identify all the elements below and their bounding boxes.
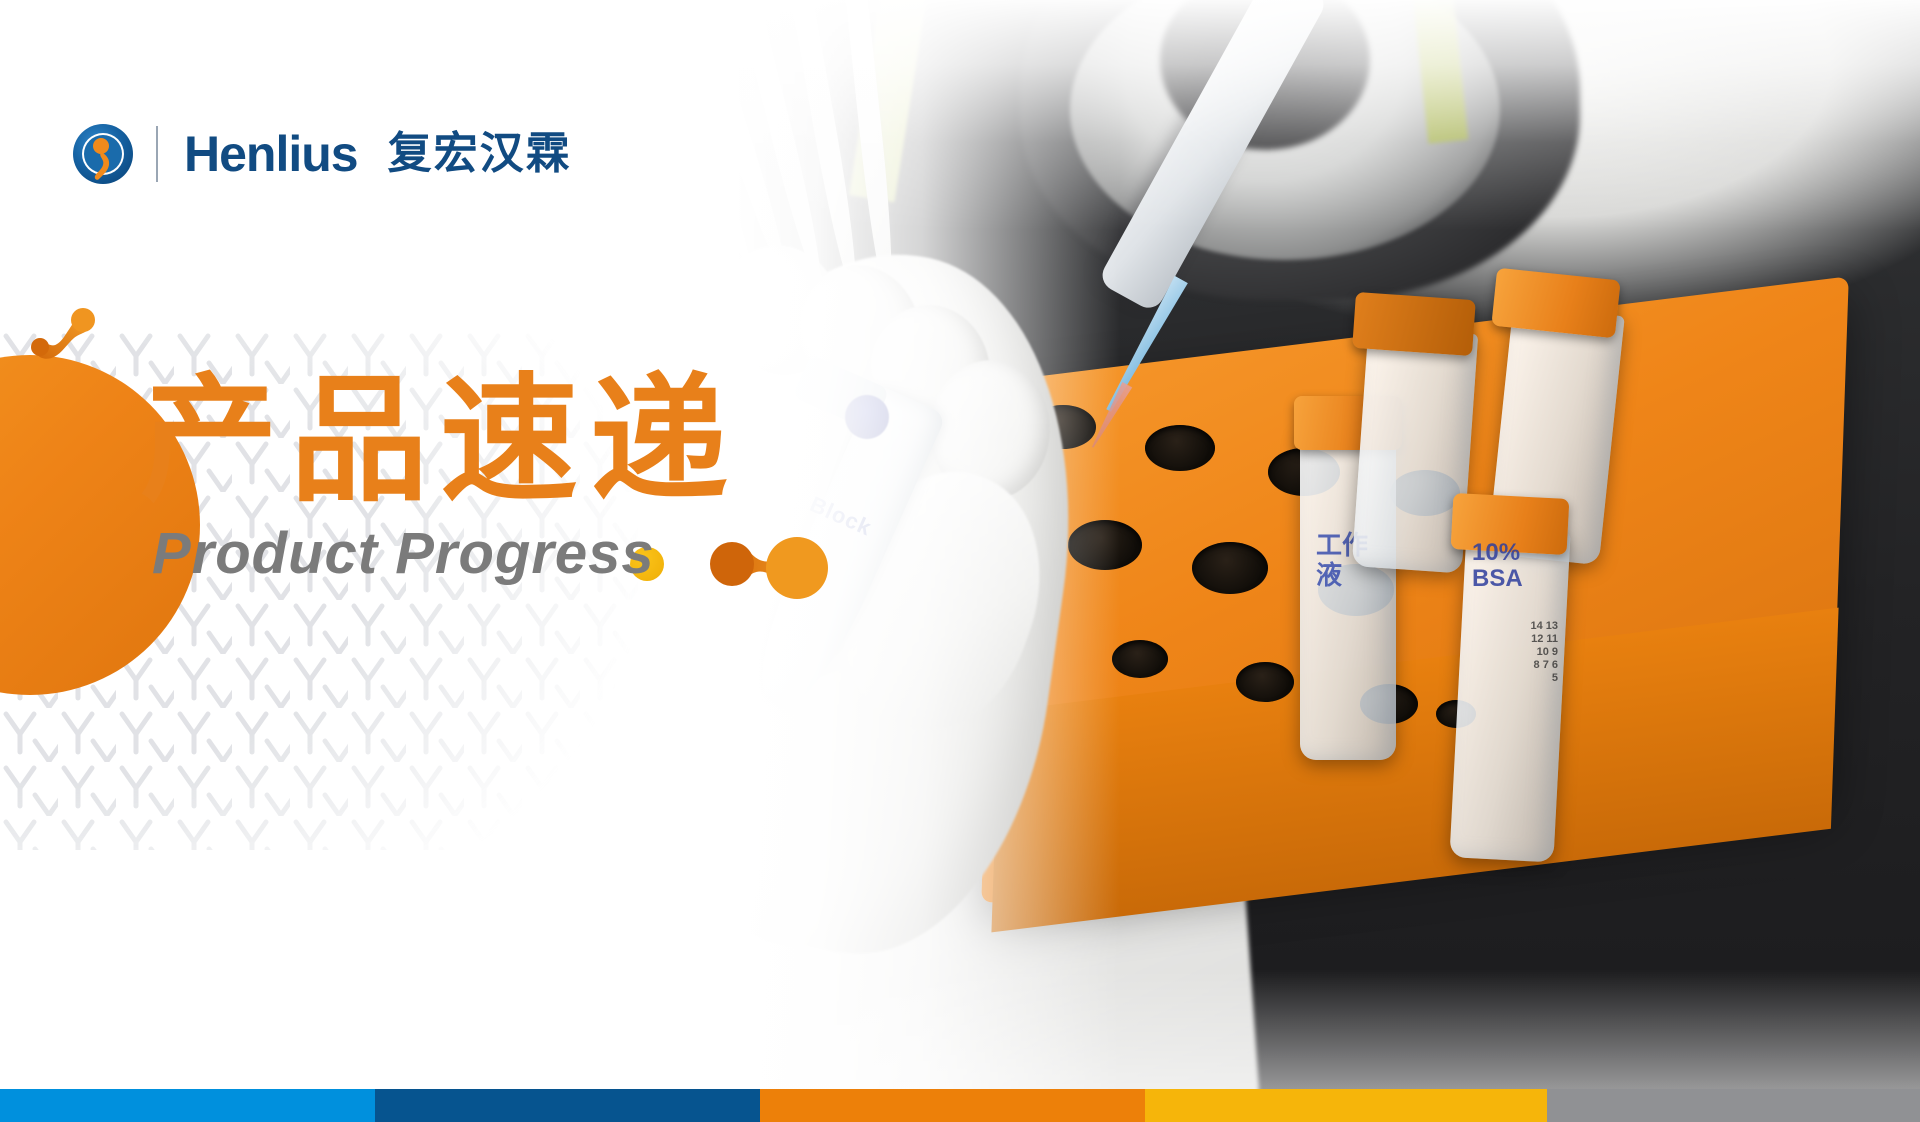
logo-wordmark: Henlius [184, 129, 358, 179]
bar-segment-dark-blue [375, 1089, 760, 1122]
page-title: 产品速递 [140, 372, 740, 510]
photo-bottom-fade [600, 970, 1920, 1090]
bar-segment-orange [760, 1089, 1145, 1122]
photo-top-fade [600, 0, 1920, 230]
molecule-dumbbell-large [690, 528, 840, 600]
presentation-slide: Block 工作液 10% BSA 14 13 12 11 10 9 8 7 6… [0, 0, 1920, 1122]
molecule-dumbbell-small [26, 305, 96, 367]
logo-wordmark-chinese: 复宏汉霖 [388, 132, 572, 176]
page-subtitle: Product Progress [152, 525, 655, 583]
henlius-emblem-icon [72, 123, 134, 185]
bar-segment-gray [1547, 1089, 1920, 1122]
vial-cap [1352, 292, 1476, 356]
bottom-color-bar [0, 1089, 1920, 1122]
henlius-logo[interactable]: Henlius 复宏汉霖 [72, 118, 572, 190]
vial-label-right: 10% BSA [1472, 540, 1558, 592]
logo-divider [156, 126, 158, 182]
bar-segment-light-blue [0, 1089, 375, 1122]
bar-segment-yellow [1145, 1089, 1547, 1122]
vial-graduations: 14 13 12 11 10 9 8 7 6 5 [1530, 620, 1558, 685]
